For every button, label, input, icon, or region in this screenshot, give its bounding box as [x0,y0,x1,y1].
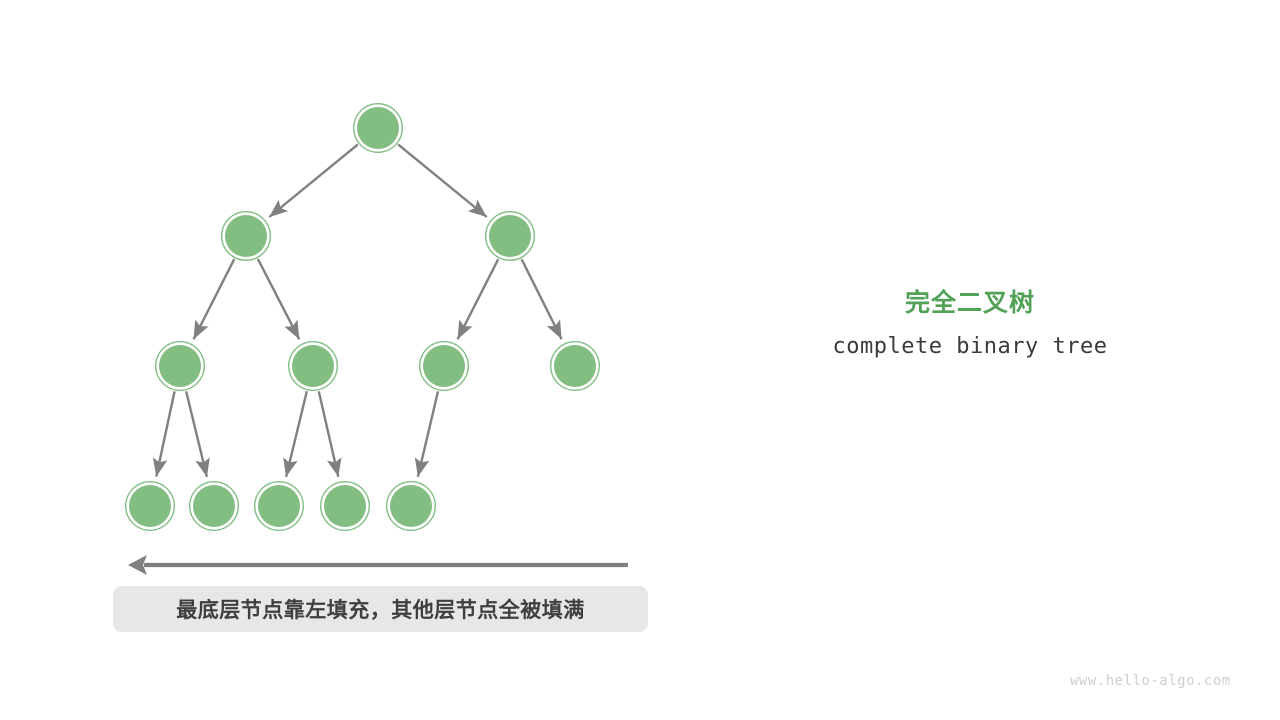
fill-direction-arrow [128,555,628,575]
tree-edge [156,391,174,476]
node-fill [292,345,334,387]
tree-edge [522,259,562,339]
tree-edge-layer [156,144,561,476]
tree-edge [418,391,438,476]
tree-node [551,342,599,390]
caption-box: 最底层节点靠左填充，其他层节点全被填满 [113,586,648,632]
tree-edge [186,391,207,477]
node-fill [324,485,366,527]
tree-node [190,482,238,530]
tree-node [156,342,204,390]
legend-subtitle: complete binary tree [760,334,1180,359]
node-fill [554,345,596,387]
tree-edge [398,144,487,217]
diagram-canvas: 完全二叉树 complete binary tree 最底层节点靠左填充，其他层… [0,0,1280,720]
tree-node [126,482,174,530]
node-fill [357,107,399,149]
tree-edge [458,259,499,339]
tree-node [321,482,369,530]
node-fill [423,345,465,387]
tree-edge [319,391,339,476]
node-fill [129,485,171,527]
tree-node [222,212,270,260]
tree-node [387,482,435,530]
node-fill [489,215,531,257]
node-fill [258,485,300,527]
caption-text: 最底层节点靠左填充，其他层节点全被填满 [176,594,585,624]
node-fill [159,345,201,387]
legend: 完全二叉树 complete binary tree [760,288,1180,359]
tree-node [255,482,303,530]
tree-edge [258,259,299,339]
tree-node [354,104,402,152]
tree-node [289,342,337,390]
legend-title: 完全二叉树 [760,288,1180,318]
tree-edge [286,391,307,477]
tree-node [486,212,534,260]
node-fill [193,485,235,527]
node-fill [390,485,432,527]
tree-edge [194,259,235,339]
tree-node [420,342,468,390]
node-fill [225,215,267,257]
watermark: www.hello-algo.com [1070,673,1231,689]
tree-node-layer [126,104,599,530]
tree-edge [269,144,358,217]
